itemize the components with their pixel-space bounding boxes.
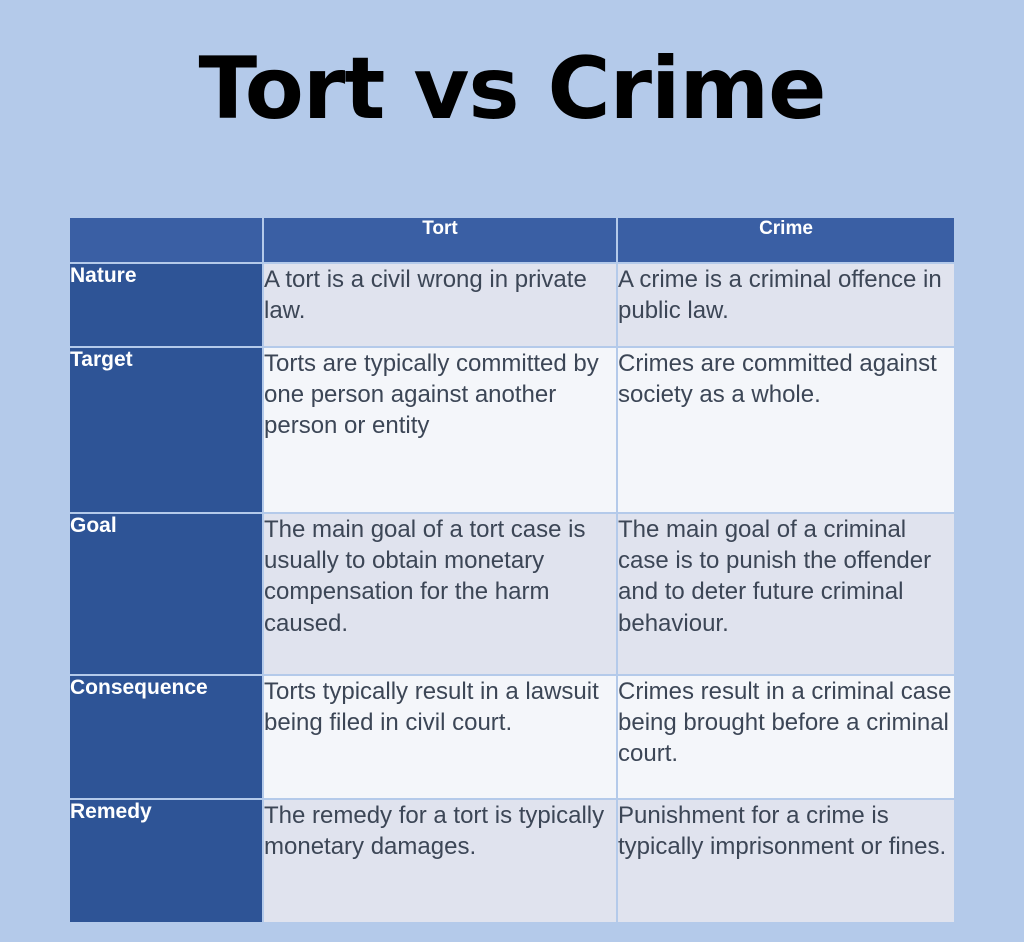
cell-remedy-tort: The remedy for a tort is typically monet… xyxy=(264,800,616,922)
cell-target-tort: Torts are typically committed by one per… xyxy=(264,348,616,512)
table-row: Remedy The remedy for a tort is typicall… xyxy=(70,800,954,922)
header-cell-tort: Tort xyxy=(264,218,616,262)
row-label-target: Target xyxy=(70,348,262,512)
header-cell-blank xyxy=(70,218,262,262)
table-header-row: Tort Crime xyxy=(70,218,954,262)
cell-nature-crime: A crime is a criminal offence in public … xyxy=(618,264,954,346)
table-row: Goal The main goal of a tort case is usu… xyxy=(70,514,954,674)
cell-remedy-crime: Punishment for a crime is typically impr… xyxy=(618,800,954,922)
header-cell-crime: Crime xyxy=(618,218,954,262)
table-row: Nature A tort is a civil wrong in privat… xyxy=(70,264,954,346)
tort-vs-crime-table: Tort Crime Nature A tort is a civil wron… xyxy=(68,216,956,924)
cell-goal-crime: The main goal of a criminal case is to p… xyxy=(618,514,954,674)
page-title: Tort vs Crime xyxy=(0,46,1024,132)
cell-consequence-crime: Crimes result in a criminal case being b… xyxy=(618,676,954,798)
table-row: Consequence Torts typically result in a … xyxy=(70,676,954,798)
cell-target-crime: Crimes are committed against society as … xyxy=(618,348,954,512)
cell-consequence-tort: Torts typically result in a lawsuit bein… xyxy=(264,676,616,798)
table-row: Target Torts are typically committed by … xyxy=(70,348,954,512)
slide-canvas: Tort vs Crime Tort Crime Nature A tort i… xyxy=(0,0,1024,942)
row-label-consequence: Consequence xyxy=(70,676,262,798)
row-label-nature: Nature xyxy=(70,264,262,346)
cell-goal-tort: The main goal of a tort case is usually … xyxy=(264,514,616,674)
cell-nature-tort: A tort is a civil wrong in private law. xyxy=(264,264,616,346)
row-label-remedy: Remedy xyxy=(70,800,262,922)
row-label-goal: Goal xyxy=(70,514,262,674)
